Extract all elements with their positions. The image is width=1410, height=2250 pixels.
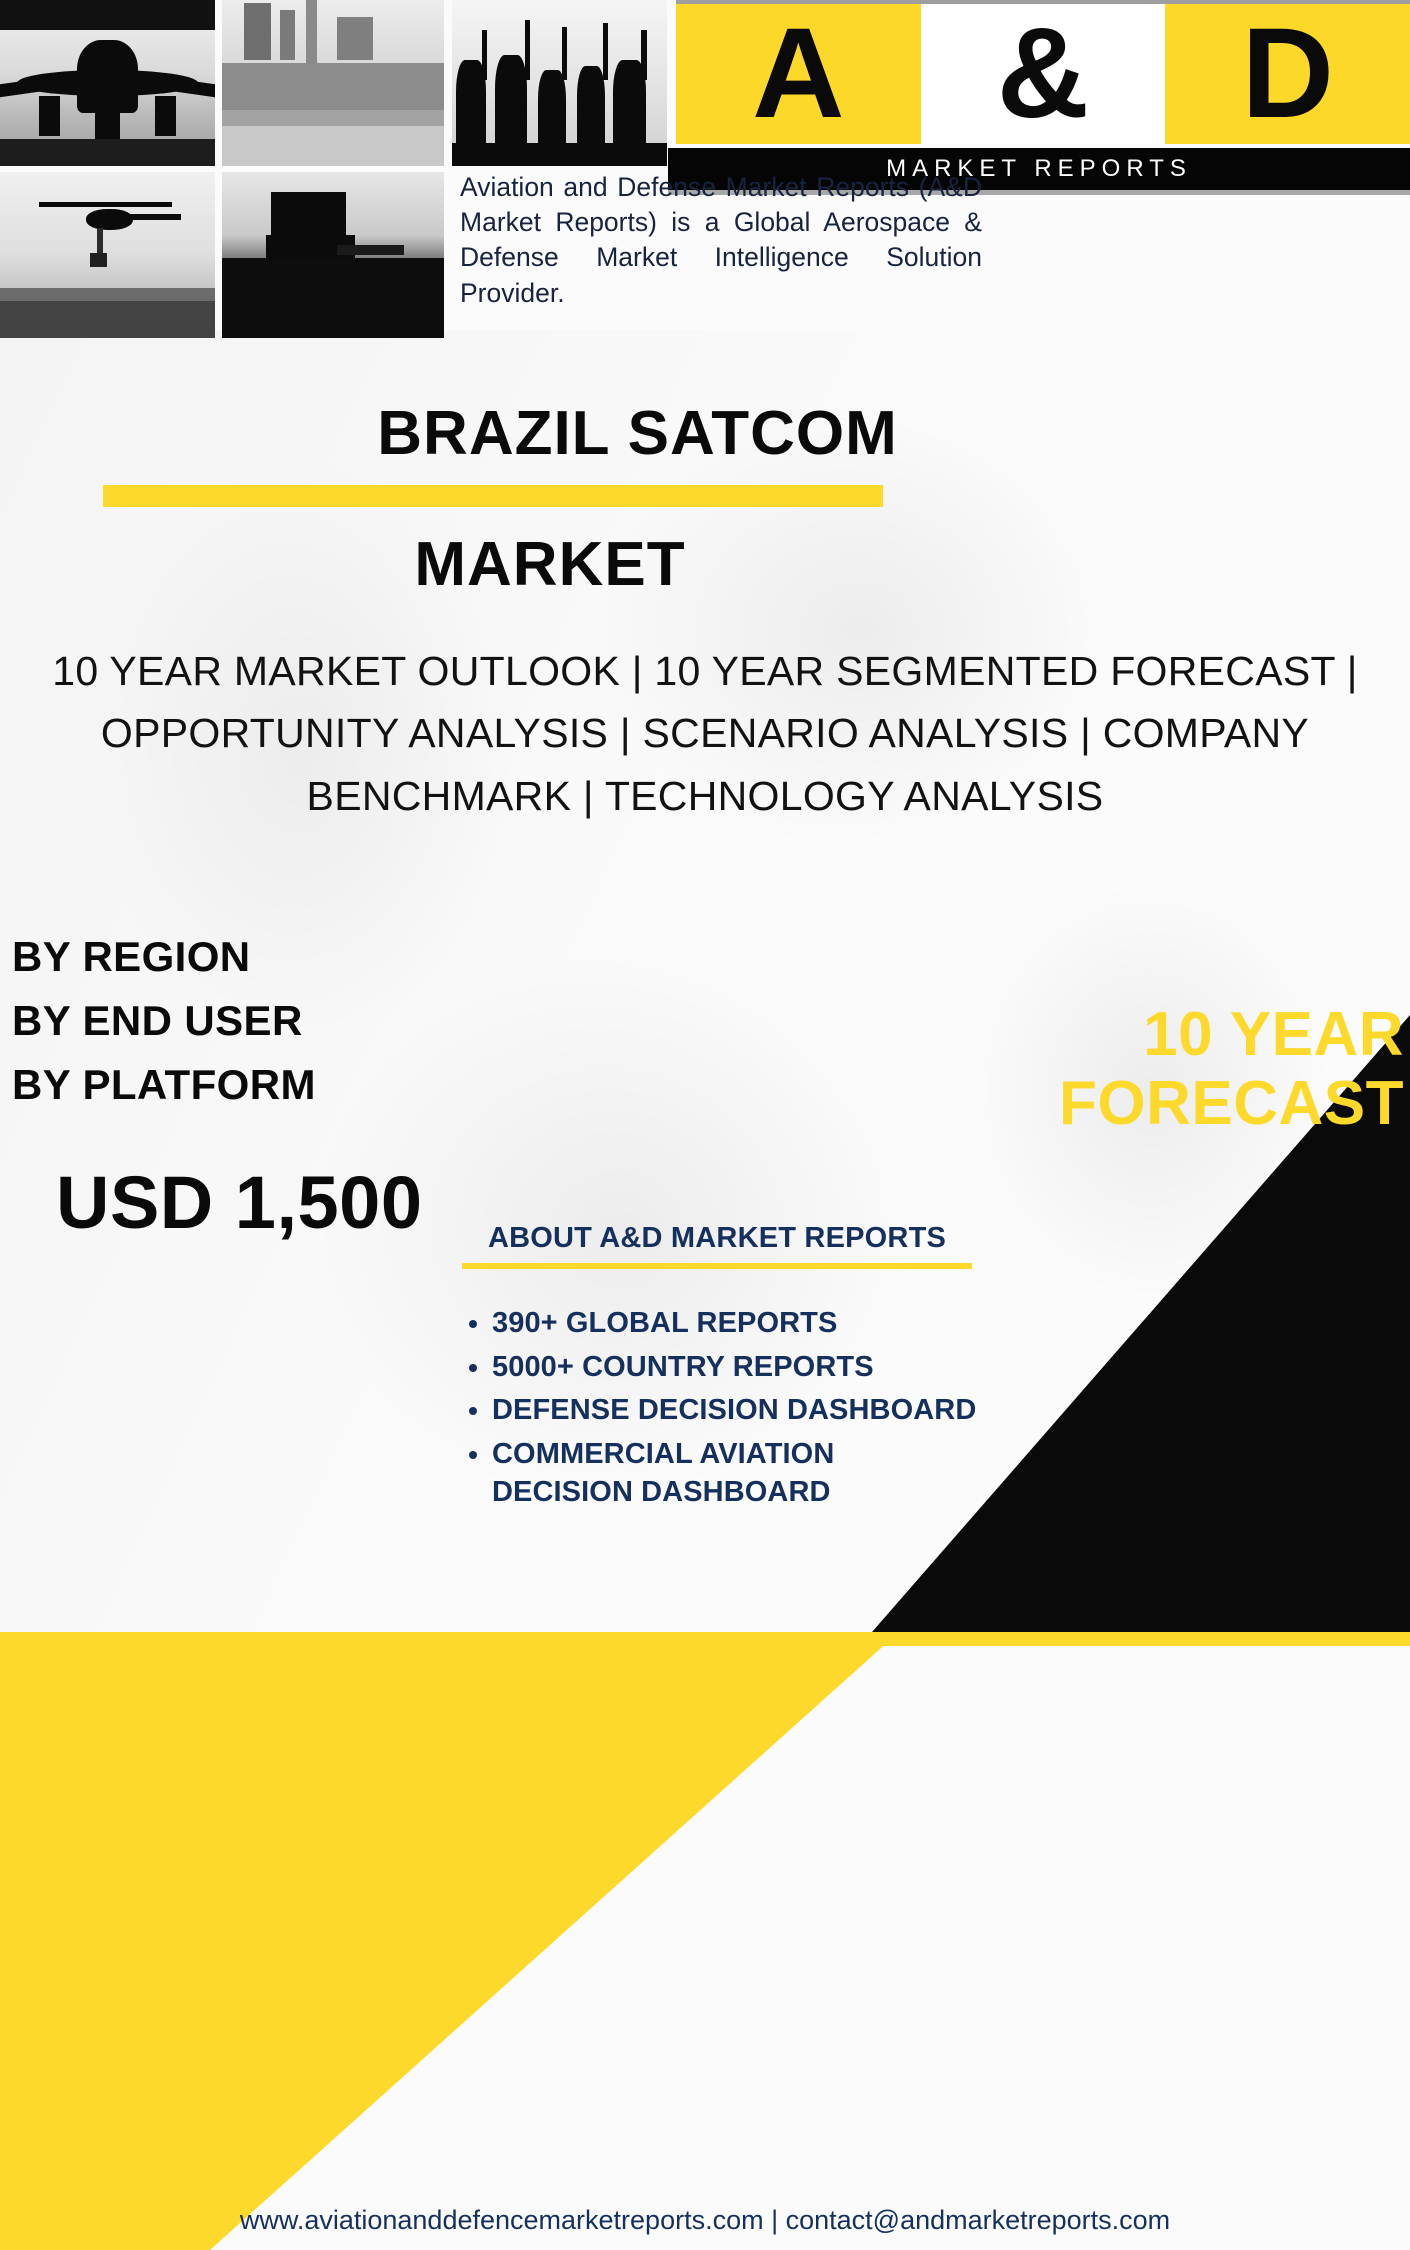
about-heading: ABOUT A&D MARKET REPORTS <box>452 1222 982 1255</box>
soldiers-silhouette-photo <box>452 0 667 166</box>
brand-intro-text: Aviation and Defense Market Reports (A&D… <box>460 170 982 311</box>
footer-contact: www.aviationanddefencemarketreports.com … <box>0 2205 1410 2236</box>
forecast-badge-line-1: 10 YEAR <box>844 1000 1404 1069</box>
armored-vehicle-photo <box>222 172 444 338</box>
segment-item-end-user: BY END USER <box>12 989 316 1053</box>
logo-letter-a: A <box>676 4 921 144</box>
about-bullet-list: 390+ GLOBAL REPORTS 5000+ COUNTRY REPORT… <box>452 1305 982 1511</box>
aircraft-carrier-photo <box>222 0 444 166</box>
about-section: ABOUT A&D MARKET REPORTS 390+ GLOBAL REP… <box>452 1222 982 1517</box>
highlights-text: 10 YEAR MARKET OUTLOOK | 10 YEAR SEGMENT… <box>30 640 1380 827</box>
about-accent-rule <box>462 1263 972 1269</box>
logo-letters: A & D <box>676 4 1410 144</box>
logo-letter-ampersand: & <box>921 4 1166 144</box>
forecast-badge: 10 YEAR FORECAST <box>844 1000 1404 1139</box>
segment-item-region: BY REGION <box>12 925 316 989</box>
about-item-defense-dashboard: DEFENSE DECISION DASHBOARD <box>492 1392 982 1430</box>
brand-logo: A & D MARKET REPORTS <box>676 0 1410 196</box>
page-title: BRAZIL SATCOM MARKET <box>0 398 1410 600</box>
about-item-country-reports: 5000+ COUNTRY REPORTS <box>492 1349 982 1387</box>
helicopter-photo <box>0 172 215 338</box>
title-line-1: BRAZIL SATCOM <box>0 398 1410 469</box>
segment-item-platform: BY PLATFORM <box>12 1053 316 1117</box>
about-item-global-reports: 390+ GLOBAL REPORTS <box>492 1305 982 1343</box>
about-item-commercial-dashboard: COMMERCIAL AVIATION DECISION DASHBOARD <box>492 1436 982 1511</box>
logo-letter-d: D <box>1165 4 1410 144</box>
forecast-badge-line-2: FORECAST <box>844 1069 1404 1138</box>
report-cover: A & D MARKET REPORTS Aviation and Defens… <box>0 0 1410 2250</box>
price-label: USD 1,500 <box>56 1160 422 1245</box>
header: A & D MARKET REPORTS Aviation and Defens… <box>0 0 1410 340</box>
fighter-jet-photo <box>0 0 215 166</box>
title-accent-rule <box>103 485 883 507</box>
segment-list: BY REGION BY END USER BY PLATFORM <box>12 925 316 1116</box>
title-line-2: MARKET <box>0 529 1410 600</box>
